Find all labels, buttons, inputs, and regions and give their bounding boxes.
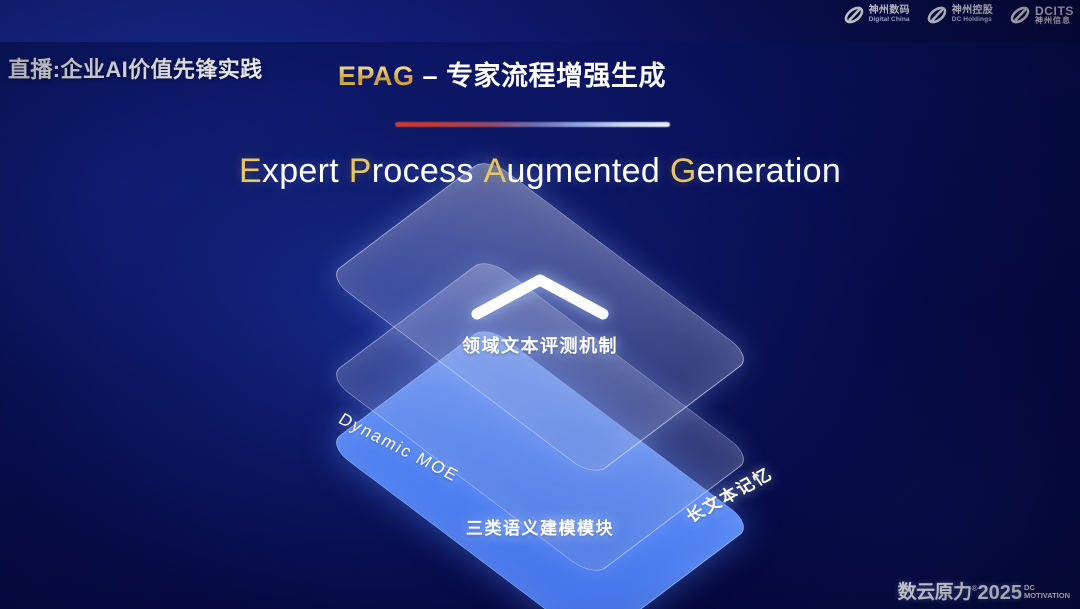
page-title-chinese: 专家流程增强生成 bbox=[446, 61, 666, 91]
word-1-initial: E bbox=[239, 152, 262, 190]
partner-logo-dc-holdings: 神州控股 DC Holdings bbox=[926, 4, 993, 26]
english-expansion-title: Expert Process Augmented Generation bbox=[0, 152, 1080, 191]
slide-canvas: 数云原力 ® 2025 DC MOTIVATION 神州数码 Digital C… bbox=[0, 0, 1080, 609]
space-2 bbox=[474, 152, 484, 190]
space-3 bbox=[660, 152, 670, 190]
title-divider bbox=[395, 122, 670, 127]
word-4-rest: eneration bbox=[697, 152, 841, 190]
chevron-up-icon bbox=[469, 270, 611, 324]
watermark-dc-motivation: DC MOTIVATION bbox=[1024, 584, 1070, 600]
watermark-dc-line2: MOTIVATION bbox=[1024, 592, 1070, 600]
word-4-initial: G bbox=[670, 152, 697, 190]
word-2-rest: rocess bbox=[372, 152, 474, 190]
page-title-acronym: EPAG bbox=[338, 61, 415, 91]
page-title: EPAG – 专家流程增强生成 bbox=[338, 54, 666, 93]
watermark-chinese: 数云原力 bbox=[898, 581, 972, 605]
partner-label-dcits: DCITS 神州信息 bbox=[1035, 5, 1074, 26]
swirl-logo-icon bbox=[926, 4, 948, 26]
partner-name-en: DC Holdings bbox=[952, 17, 993, 24]
watermark-year: 2025 bbox=[978, 581, 1023, 605]
live-stream-label: 直播:企业AI价值先锋实践 bbox=[8, 52, 263, 84]
word-3-initial: A bbox=[483, 152, 506, 190]
partner-label-dc-holdings: 神州控股 DC Holdings bbox=[952, 6, 993, 23]
partner-logo-group: 神州数码 Digital China 神州控股 DC Holdings bbox=[843, 4, 1074, 26]
partner-label-digital-china: 神州数码 Digital China bbox=[869, 6, 910, 23]
footer-watermark: 数云原力 ® 2025 DC MOTIVATION bbox=[898, 581, 1070, 605]
word-3-rest: ugmented bbox=[506, 152, 660, 190]
partner-logo-dcits: DCITS 神州信息 bbox=[1009, 4, 1074, 26]
swirl-logo-icon bbox=[843, 4, 865, 26]
partner-name-en: Digital China bbox=[869, 17, 910, 24]
diagram-label-bottom: 三类语义建模模块 bbox=[466, 514, 614, 539]
layered-architecture-diagram: 领域文本评测机制 Dynamic MOE 长文本记忆 三类语义建模模块 bbox=[262, 222, 818, 582]
word-2-initial: P bbox=[349, 152, 372, 190]
partner-name-cn: 神州信息 bbox=[1035, 17, 1074, 25]
partner-logo-digital-china: 神州数码 Digital China bbox=[843, 4, 910, 26]
word-1-rest: xpert bbox=[262, 152, 339, 190]
space-1 bbox=[339, 152, 349, 190]
swirl-logo-icon bbox=[1009, 4, 1031, 26]
diagram-label-top: 领域文本评测机制 bbox=[462, 332, 618, 358]
page-title-separator: – bbox=[415, 61, 447, 91]
